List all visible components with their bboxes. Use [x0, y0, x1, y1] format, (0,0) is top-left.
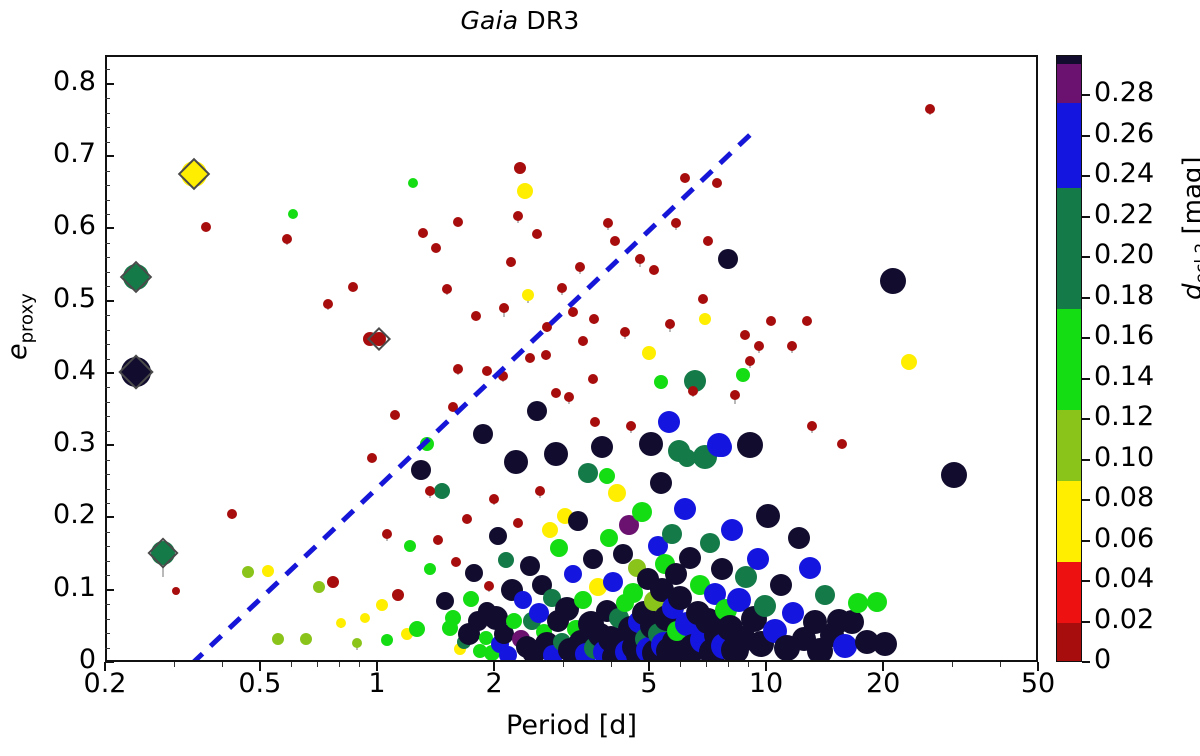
x-minor-tick [1000, 662, 1001, 667]
colorbar-tick-label: 0.24 [1094, 158, 1154, 189]
colorbar-tick [1082, 135, 1090, 137]
reference-dashed-line [107, 57, 1038, 662]
colorbar-tick-label: 0.04 [1094, 563, 1154, 594]
x-minor-tick [339, 662, 340, 667]
y-minor-tick [105, 315, 110, 316]
y-tick [105, 155, 114, 157]
y-tick-label: 0.4 [22, 355, 96, 386]
x-minor-tick [359, 662, 360, 667]
x-minor-tick [563, 662, 564, 667]
x-minor-tick [611, 662, 612, 667]
colorbar-tick-label: 0.08 [1094, 482, 1154, 513]
colorbar-segment [1057, 56, 1081, 64]
x-tick-label: 0.5 [225, 668, 295, 699]
y-minor-tick [105, 503, 110, 504]
colorbar-segment [1057, 481, 1081, 562]
y-minor-tick [105, 619, 110, 620]
y-minor-tick [105, 127, 110, 128]
colorbar-segment [1057, 562, 1081, 623]
x-minor-tick [952, 662, 953, 667]
y-minor-tick [105, 359, 110, 360]
colorbar-tick [1082, 580, 1090, 582]
y-minor-tick [105, 330, 110, 331]
colorbar-tick [1082, 337, 1090, 339]
y-minor-tick [105, 113, 110, 114]
figure-root: Gaia DR3 0 < ϵ(ϖ)/ϖ < 0.15, C* < 0.5, ra… [0, 0, 1200, 756]
y-minor-tick [105, 546, 110, 547]
y-minor-tick [105, 416, 110, 417]
y-minor-tick [105, 575, 110, 576]
colorbar-tick [1082, 378, 1090, 380]
y-tick [105, 444, 114, 446]
y-minor-tick [105, 243, 110, 244]
y-minor-tick [105, 561, 110, 562]
y-tick-label: 0.5 [22, 283, 96, 314]
x-tick-label: 0.2 [70, 668, 140, 699]
colorbar-tick-label: 0.14 [1094, 361, 1154, 392]
colorbar-segment [1057, 410, 1081, 481]
x-tick-label: 2 [459, 668, 529, 699]
y-tick-label: 0.1 [22, 572, 96, 603]
x-minor-tick [748, 662, 749, 667]
y-minor-tick [105, 286, 110, 287]
colorbar-tick-label: 0.02 [1094, 604, 1154, 635]
colorbar-tick [1082, 216, 1090, 218]
x-minor-tick [728, 662, 729, 667]
title-italic: Gaia [460, 6, 518, 35]
colorbar-tick-label: 0.18 [1094, 280, 1154, 311]
y-minor-tick [105, 185, 110, 186]
x-tick-label: 1 [342, 668, 412, 699]
colorbar-tick [1082, 540, 1090, 542]
y-minor-tick [105, 272, 110, 273]
colorbar [1056, 55, 1082, 662]
title-rest: DR3 [518, 6, 579, 35]
y-minor-tick [105, 402, 110, 403]
y-minor-tick [105, 604, 110, 605]
y-tick [105, 661, 114, 663]
x-axis-title: Period [d] [105, 710, 1038, 741]
y-minor-tick [105, 648, 110, 649]
y-minor-tick [105, 69, 110, 70]
y-tick [105, 589, 114, 591]
colorbar-tick [1082, 499, 1090, 501]
y-tick-label: 0.7 [22, 138, 96, 169]
colorbar-tick-label: 0.22 [1094, 199, 1154, 230]
figure-title: Gaia DR3 [0, 6, 1040, 35]
y-minor-tick [105, 387, 110, 388]
y-tick-label: 0.3 [22, 427, 96, 458]
colorbar-tick-label: 0.20 [1094, 239, 1154, 270]
y-tick [105, 227, 114, 229]
y-tick [105, 300, 114, 302]
x-minor-tick [174, 662, 175, 667]
y-tick-label: 0.8 [22, 66, 96, 97]
colorbar-tick [1082, 459, 1090, 461]
x-tick-label: 5 [614, 668, 684, 699]
y-minor-tick [105, 98, 110, 99]
colorbar-tick-label: 0.06 [1094, 523, 1154, 554]
y-minor-tick [105, 344, 110, 345]
colorbar-tick [1082, 256, 1090, 258]
y-tick [105, 83, 114, 85]
colorbar-tick [1082, 94, 1090, 96]
colorbar-tick-label: 0.16 [1094, 320, 1154, 351]
scatter-plot-area [105, 55, 1038, 662]
x-tick-label: 10 [731, 668, 801, 699]
x-minor-tick [317, 662, 318, 667]
colorbar-segment [1057, 623, 1081, 662]
y-minor-tick [105, 431, 110, 432]
colorbar-tick-label: 0.10 [1094, 442, 1154, 473]
x-minor-tick [222, 662, 223, 667]
colorbar-tick [1082, 661, 1090, 663]
y-minor-tick [105, 460, 110, 461]
y-minor-tick [105, 489, 110, 490]
colorbar-tick [1082, 621, 1090, 623]
colorbar-tick-label: 0 [1094, 644, 1111, 675]
y-minor-tick [105, 200, 110, 201]
y-minor-tick [105, 257, 110, 258]
colorbar-segment [1057, 309, 1081, 410]
y-minor-tick [105, 633, 110, 634]
x-tick-label: 20 [848, 668, 918, 699]
y-tick [105, 372, 114, 374]
colorbar-tick-label: 0.28 [1094, 77, 1154, 108]
colorbar-tick [1082, 175, 1090, 177]
colorbar-tick [1082, 297, 1090, 299]
x-minor-tick [680, 662, 681, 667]
colorbar-tick-label: 0.26 [1094, 118, 1154, 149]
colorbar-title: decl,2 [mag] [1178, 156, 1200, 300]
y-minor-tick [105, 171, 110, 172]
colorbar-tick [1082, 418, 1090, 420]
colorbar-segment [1057, 188, 1081, 309]
colorbar-segment [1057, 103, 1081, 188]
y-tick-label: 0.2 [22, 499, 96, 530]
colorbar-tick-label: 0.12 [1094, 401, 1154, 432]
colorbar-segment [1057, 64, 1081, 102]
x-minor-tick [706, 662, 707, 667]
y-minor-tick [105, 142, 110, 143]
x-tick-label: 50 [1003, 668, 1073, 699]
y-minor-tick [105, 474, 110, 475]
x-minor-tick [291, 662, 292, 667]
y-tick-label: 0.6 [22, 210, 96, 241]
y-tick [105, 516, 114, 518]
y-minor-tick [105, 214, 110, 215]
y-minor-tick [105, 532, 110, 533]
